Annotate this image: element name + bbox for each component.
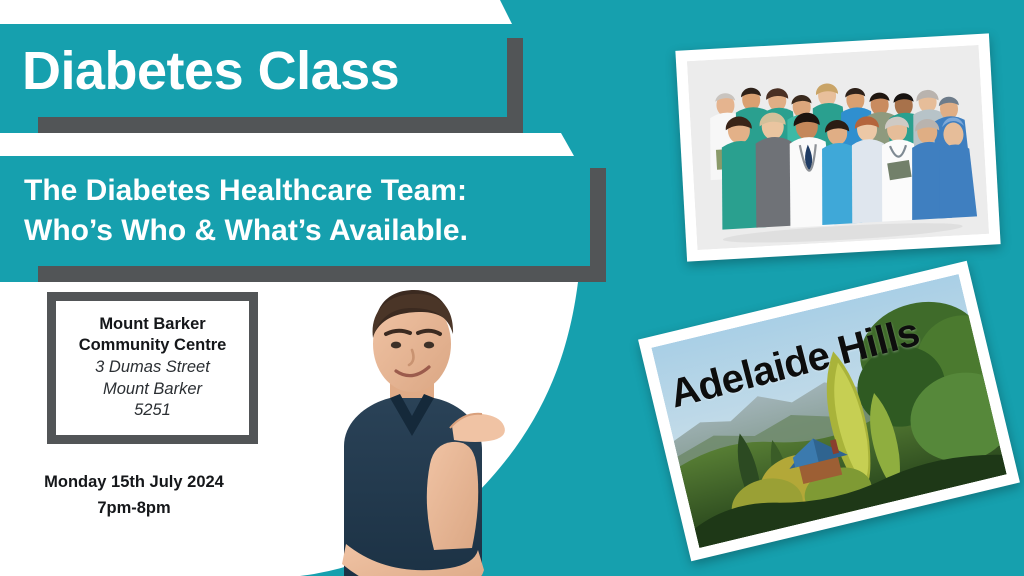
- team-photo-figures: [687, 45, 989, 250]
- title-shadow-bottom: [38, 117, 523, 133]
- subtitle-shadow-right: [590, 168, 606, 282]
- venue-name: Mount Barker Community Centre: [79, 314, 227, 356]
- mid-white-band: [0, 133, 574, 156]
- title-band: Diabetes Class: [0, 24, 505, 117]
- medical-team-photo-image: [687, 45, 989, 250]
- presenter-photo: [282, 276, 550, 576]
- subtitle-band: The Diabetes Healthcare Team: Who’s Who …: [0, 156, 588, 266]
- venue-info-box: Mount Barker Community Centre 3 Dumas St…: [47, 292, 258, 444]
- venue-address: 3 Dumas Street Mount Barker 5251: [95, 357, 210, 421]
- page-title: Diabetes Class: [0, 44, 399, 98]
- medical-team-photo: [675, 33, 1000, 261]
- event-datetime: Monday 15th July 2024 7pm-8pm: [10, 470, 258, 521]
- poster-canvas: Diabetes Class The Diabetes Healthcare T…: [0, 0, 1024, 576]
- page-subtitle: The Diabetes Healthcare Team: Who’s Who …: [0, 171, 468, 250]
- title-shadow-right: [507, 38, 523, 133]
- top-white-band: [0, 0, 512, 24]
